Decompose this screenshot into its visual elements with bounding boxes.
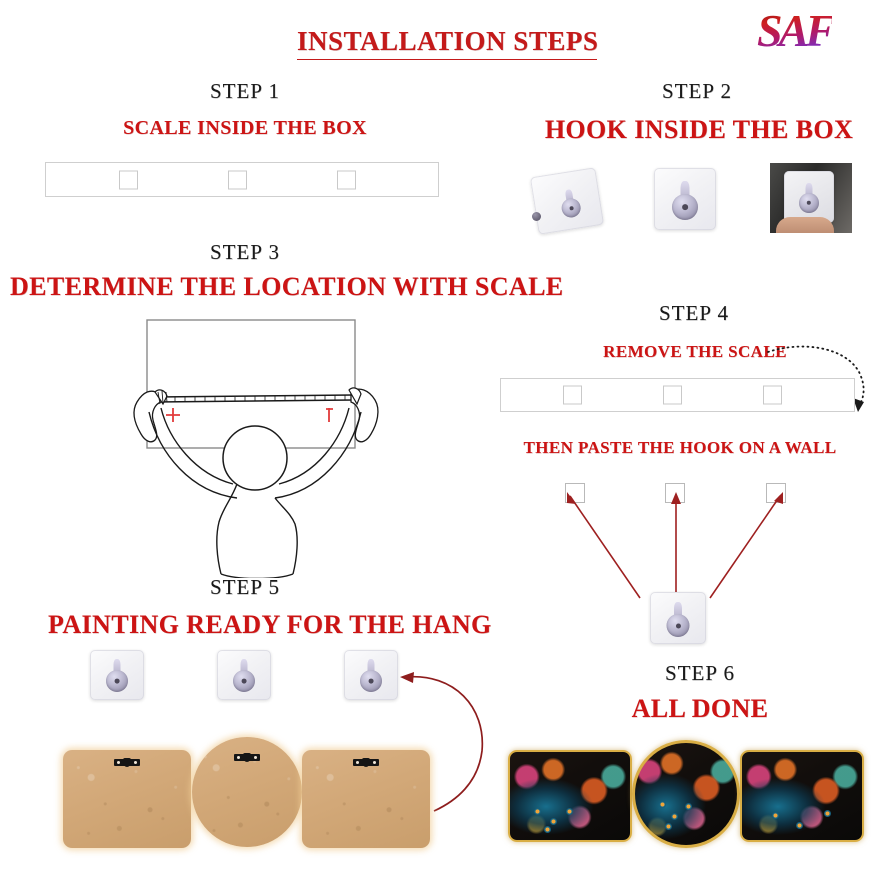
- hook-pad-front-photo: [650, 166, 722, 236]
- hand-icon: [776, 217, 834, 233]
- step-1-scale-strip: [45, 162, 439, 197]
- keyhole-hanger-icon: [234, 754, 260, 761]
- peacock-art-panel-right: [740, 750, 864, 842]
- hook-pad-icon: [784, 171, 834, 223]
- scale-strip-square: [663, 386, 682, 405]
- hook-pad-icon: [90, 650, 144, 700]
- mdf-panel-back-rectangle: [63, 750, 191, 848]
- installation-steps-infographic: SAF INSTALLATION STEPS STEP 1 SCALE INSI…: [0, 0, 894, 894]
- peacock-art-panel-left: [508, 750, 632, 842]
- step-6-label: STEP 6: [595, 661, 805, 686]
- step-4-scale-strip: [500, 378, 855, 412]
- hook-pad-icon: [654, 168, 716, 230]
- saf-logo: SAF: [757, 8, 832, 54]
- hook-pad-tilted-photo: [528, 168, 608, 233]
- step-6-description: ALL DONE: [600, 694, 800, 724]
- step-4-description-2: THEN PASTE THE HOOK ON A WALL: [505, 438, 855, 458]
- mdf-panel-back-circle: [192, 737, 302, 847]
- step-4-label: STEP 4: [589, 301, 799, 326]
- scale-strip-square: [119, 170, 138, 189]
- step-3-description: DETERMINE THE LOCATION WITH SCALE: [10, 272, 510, 302]
- step-2-description: HOOK INSIDE THE BOX: [524, 115, 874, 145]
- scale-strip-square: [563, 386, 582, 405]
- step-5-label: STEP 5: [140, 575, 350, 600]
- keyhole-hanger-icon: [114, 759, 140, 766]
- step-5-description: PAINTING READY FOR THE HANG: [48, 610, 448, 640]
- step-3-illustration: [125, 308, 385, 578]
- scale-strip-square: [763, 386, 782, 405]
- hook-pad-icon: [217, 650, 271, 700]
- keyhole-hanger-icon: [353, 759, 379, 766]
- page-title: INSTALLATION STEPS: [297, 26, 597, 60]
- mdf-panel-back-rectangle: [302, 750, 430, 848]
- hook-pad-in-hand-photo: [770, 163, 852, 233]
- peacock-art-panel-center: [632, 740, 740, 848]
- step-1-label: STEP 1: [140, 79, 350, 104]
- scale-strip-square: [228, 170, 247, 189]
- hook-screw-icon: [532, 212, 541, 221]
- step-1-description: SCALE INSIDE THE BOX: [95, 117, 395, 140]
- hook-pad-icon: [530, 167, 604, 235]
- wall-hook-icon: [650, 592, 706, 644]
- scale-strip-square: [337, 170, 356, 189]
- step-2-label: STEP 2: [592, 79, 802, 104]
- step-3-label: STEP 3: [140, 240, 350, 265]
